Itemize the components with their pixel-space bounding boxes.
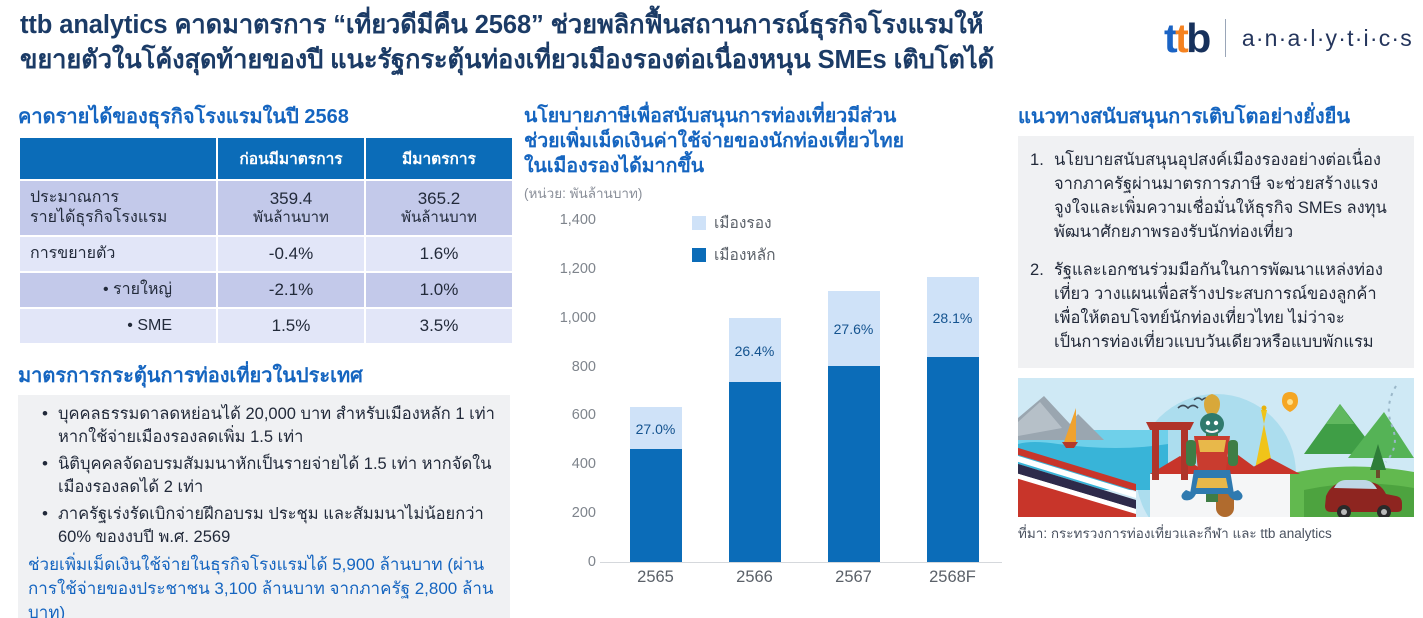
cell-value: 365.2 xyxy=(418,189,461,208)
table-header-row: ก่อนมีมาตรการ มีมาตรการ xyxy=(20,138,512,179)
logo-letter-t2: t xyxy=(1175,15,1186,61)
headline-line-1: ttb analytics คาดมาตรการ “เที่ยวดีมีคืน … xyxy=(20,11,983,39)
cell-unit: พันล้านบาท xyxy=(228,209,354,227)
guidelines-panel: นโยบายสนับสนุนอุปสงค์เมืองรองอย่างต่อเนื… xyxy=(1018,136,1414,368)
chart-unit-label: (หน่วย: พันล้านบาท) xyxy=(524,182,1014,204)
logo-divider xyxy=(1225,19,1226,57)
y-axis-tick: 400 xyxy=(572,456,596,472)
table-row: ประมาณการ รายได้ธุรกิจโรงแรม 359.4 พันล้… xyxy=(20,181,512,235)
table-header-before: ก่อนมีมาตรการ xyxy=(218,138,364,179)
y-axis-tick: 1,200 xyxy=(560,261,596,277)
cell-unit: พันล้านบาท xyxy=(376,209,502,227)
bar-segment-main-city xyxy=(729,382,781,562)
headline-line-2: ขยายตัวในโค้งสุดท้ายของปี แนะรัฐกระตุ้นท… xyxy=(20,43,1160,78)
page-headline: ttb analytics คาดมาตรการ “เที่ยวดีมีคืน … xyxy=(20,8,1160,78)
row-label-revenue-estimate: ประมาณการ รายได้ธุรกิจโรงแรม xyxy=(20,181,216,235)
measures-panel: บุคคลธรรมดาลดหย่อนได้ 20,000 บาท สำหรับเ… xyxy=(18,395,510,618)
y-axis-tick: 0 xyxy=(588,554,596,570)
ttb-analytics-logo: ttb a·n·a·l·y·t·i·c·s xyxy=(1164,14,1413,62)
bar-group: 27.0%26.4%27.6%28.1% xyxy=(606,220,1002,562)
table-row: • รายใหญ่ -2.1% 1.0% xyxy=(20,273,512,307)
list-item: นิติบุคคลจัดอบรมสัมมนาหักเป็นรายจ่ายได้ … xyxy=(42,453,500,499)
cell-value: 359.4 xyxy=(270,189,313,208)
table-header-after: มีมาตรการ xyxy=(366,138,512,179)
x-axis-tick: 2567 xyxy=(814,568,894,587)
guidelines-list: นโยบายสนับสนุนอุปสงค์เมืองรองอย่างต่อเนื… xyxy=(1028,148,1400,354)
row-label-sme: • SME xyxy=(20,309,216,343)
left-column: คาดรายได้ของธุรกิจโรงแรมในปี 2568 ก่อนมี… xyxy=(18,104,510,618)
stacked-bar-chart: เมืองรอง เมืองหลัก 02004006008001,0001,2… xyxy=(524,206,1014,591)
cell-sme-before: 1.5% xyxy=(218,309,364,343)
table-row: การขยายตัว -0.4% 1.6% xyxy=(20,237,512,271)
cell-sme-after: 3.5% xyxy=(366,309,512,343)
cell-large-after: 1.0% xyxy=(366,273,512,307)
bar-2566: 26.4% xyxy=(729,318,781,562)
cell-large-before: -2.1% xyxy=(218,273,364,307)
bar-2565: 27.0% xyxy=(630,407,682,562)
table-header-blank xyxy=(20,138,216,179)
list-item: บุคคลธรรมดาลดหย่อนได้ 20,000 บาท สำหรับเ… xyxy=(42,403,500,449)
revenue-forecast-table: ก่อนมีมาตรการ มีมาตรการ ประมาณการ รายได้… xyxy=(18,136,514,345)
guidelines-title: แนวทางสนับสนุนการเติบโตอย่างยั่งยืน xyxy=(1018,104,1414,130)
infographic-page: ttb analytics คาดมาตรการ “เที่ยวดีมีคืน … xyxy=(0,0,1423,618)
x-axis-tick: 2566 xyxy=(715,568,795,587)
row-label-large: • รายใหญ่ xyxy=(20,273,216,307)
y-axis-tick: 200 xyxy=(572,505,596,521)
chart-title-line-3: ในเมืองรองได้มากขึ้น xyxy=(524,155,704,177)
logo-analytics-word: a·n·a·l·y·t·i·c·s xyxy=(1242,25,1413,52)
y-axis-tick: 1,000 xyxy=(560,310,596,326)
bar-segment-main-city xyxy=(828,366,880,562)
thailand-tourism-illustration xyxy=(1018,378,1414,517)
cell-growth-before: -0.4% xyxy=(218,237,364,271)
source-caption: ที่มา: กระทรวงการท่องเที่ยวและกีฬา และ t… xyxy=(1018,522,1414,544)
table-row: • SME 1.5% 3.5% xyxy=(20,309,512,343)
logo-letter-b: b xyxy=(1186,15,1209,61)
x-axis-tick: 2568F xyxy=(913,568,993,587)
row-label-line-1: ประมาณการ xyxy=(30,189,119,206)
cell-revenue-before: 359.4 พันล้านบาท xyxy=(218,181,364,235)
measures-list: บุคคลธรรมดาลดหย่อนได้ 20,000 บาท สำหรับเ… xyxy=(42,403,500,549)
revenue-table-title: คาดรายได้ของธุรกิจโรงแรมในปี 2568 xyxy=(18,104,510,130)
measures-summary-note: ช่วยเพิ่มเม็ดเงินใช้จ่ายในธุรกิจโรงแรมได… xyxy=(28,553,500,618)
measures-title: มาตรการกระตุ้นการท่องเที่ยวในประเทศ xyxy=(18,359,510,391)
bar-value-label: 28.1% xyxy=(927,310,979,326)
bar-2567: 27.6% xyxy=(828,291,880,562)
row-label-line-2: รายได้ธุรกิจโรงแรม xyxy=(30,209,167,226)
cell-growth-after: 1.6% xyxy=(366,237,512,271)
ttb-wordmark: ttb xyxy=(1164,18,1209,59)
x-axis-tick: 2565 xyxy=(616,568,696,587)
chart-title: นโยบายภาษีเพื่อสนับสนุนการท่องเที่ยวมีส่… xyxy=(524,104,1014,179)
illustration-svg xyxy=(1018,378,1414,517)
list-item: รัฐและเอกชนร่วมมือกันในการพัฒนาแหล่งท่อง… xyxy=(1028,258,1400,354)
y-axis-labels: 02004006008001,0001,2001,400 xyxy=(524,220,596,562)
list-item: นโยบายสนับสนุนอุปสงค์เมืองรองอย่างต่อเนื… xyxy=(1028,148,1400,244)
logo-letter-t1: t xyxy=(1164,15,1175,61)
bar-value-label: 26.4% xyxy=(729,343,781,359)
x-axis-labels: 2565256625672568F xyxy=(606,568,1002,594)
chart-plot-area: 27.0%26.4%27.6%28.1% xyxy=(606,220,1002,562)
middle-column: นโยบายภาษีเพื่อสนับสนุนการท่องเที่ยวมีส่… xyxy=(524,104,1014,591)
bar-value-label: 27.0% xyxy=(630,421,682,437)
cell-revenue-after: 365.2 พันล้านบาท xyxy=(366,181,512,235)
right-column: แนวทางสนับสนุนการเติบโตอย่างยั่งยืน นโยบ… xyxy=(1018,104,1414,544)
chart-title-line-2: ช่วยเพิ่มเม็ดเงินค่าใช้จ่ายของนักท่องเที… xyxy=(524,130,904,152)
y-axis-tick: 600 xyxy=(572,407,596,423)
list-item: ภาครัฐเร่งรัดเบิกจ่ายฝึกอบรม ประชุม และส… xyxy=(42,503,500,549)
y-axis-tick: 800 xyxy=(572,359,596,375)
bar-value-label: 27.6% xyxy=(828,321,880,337)
bar-segment-main-city xyxy=(630,449,682,562)
x-axis-line xyxy=(600,562,1002,563)
row-label-growth: การขยายตัว xyxy=(20,237,216,271)
y-axis-tick: 1,400 xyxy=(560,212,596,228)
bar-2568F: 28.1% xyxy=(927,277,979,562)
header: ttb analytics คาดมาตรการ “เที่ยวดีมีคืน … xyxy=(0,0,1423,96)
chart-title-line-1: นโยบายภาษีเพื่อสนับสนุนการท่องเที่ยวมีส่… xyxy=(524,105,896,127)
bar-segment-main-city xyxy=(927,357,979,562)
